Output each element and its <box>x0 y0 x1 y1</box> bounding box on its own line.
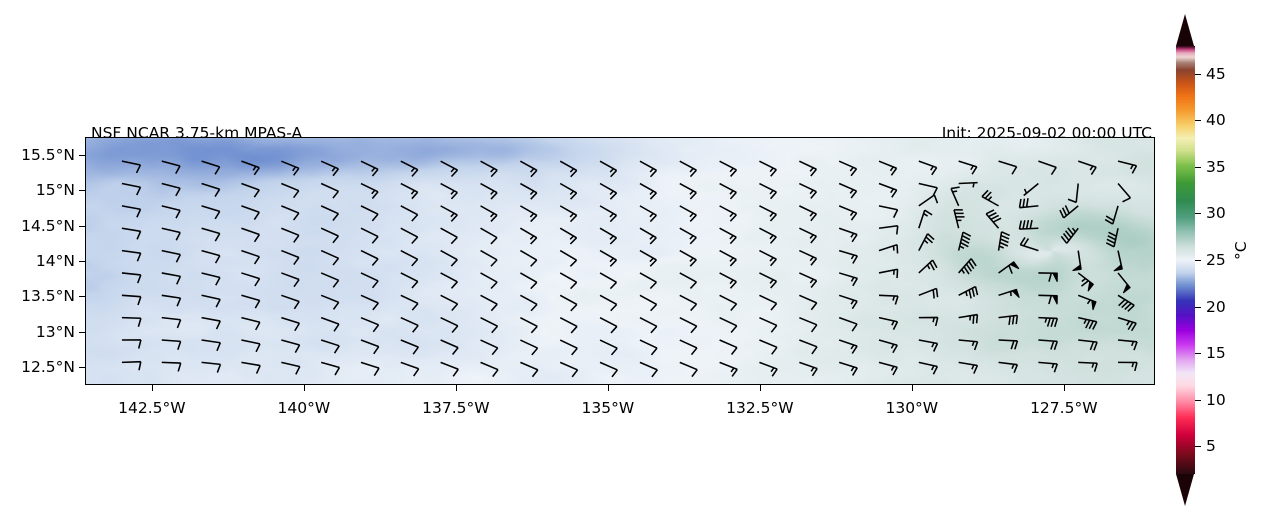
y-axis-tick <box>79 261 85 262</box>
x-axis-tick <box>152 385 153 391</box>
x-axis-tick-label: 135°W <box>581 399 634 417</box>
colorbar-tick-label: 45 <box>1206 65 1226 83</box>
colorbar-tick <box>1195 307 1201 308</box>
colorbar-tick-label: 40 <box>1206 111 1226 129</box>
colorbar-tick-label: 10 <box>1206 391 1226 409</box>
x-axis-tick <box>912 385 913 391</box>
colorbar-tick-label: 30 <box>1206 204 1226 222</box>
y-axis-tick <box>79 367 85 368</box>
colorbar-tick-label: 35 <box>1206 158 1226 176</box>
colorbar-tick <box>1195 213 1201 214</box>
y-axis-tick-label: 14.5°N <box>21 217 75 235</box>
colorbar-tick <box>1195 400 1201 401</box>
y-axis-tick-label: 12.5°N <box>21 358 75 376</box>
y-axis-tick-label: 14°N <box>36 252 75 270</box>
x-axis-tick <box>608 385 609 391</box>
y-axis-tick <box>79 155 85 156</box>
x-axis-tick-label: 127.5°W <box>1030 399 1097 417</box>
wind-barbs-layer <box>86 138 1154 385</box>
colorbar-tick-label: 5 <box>1206 437 1216 455</box>
x-axis-tick-label: 140°W <box>278 399 331 417</box>
colorbar: 51015202530354045 <box>1176 14 1195 506</box>
x-axis-tick <box>1064 385 1065 391</box>
weather-map-figure: NSF NCAR 3.75-km MPAS-A 2-m Temperature … <box>0 0 1268 520</box>
x-axis-tick <box>456 385 457 391</box>
colorbar-tick <box>1195 120 1201 121</box>
y-axis-tick-label: 15.5°N <box>21 146 75 164</box>
colorbar-tick <box>1195 167 1201 168</box>
x-axis-tick-label: 137.5°W <box>422 399 489 417</box>
y-axis-tick <box>79 332 85 333</box>
colorbar-tick <box>1195 74 1201 75</box>
colorbar-tick <box>1195 353 1201 354</box>
colorbar-extend-high-arrow <box>1176 14 1194 46</box>
colorbar-gradient <box>1176 46 1195 474</box>
x-axis-tick <box>760 385 761 391</box>
y-axis-tick <box>79 226 85 227</box>
colorbar-tick-label: 20 <box>1206 298 1226 316</box>
colorbar-tick-label: 25 <box>1206 251 1226 269</box>
x-axis-tick-label: 132.5°W <box>726 399 793 417</box>
colorbar-unit-label: °C <box>1232 241 1250 260</box>
x-axis-tick <box>304 385 305 391</box>
x-axis-tick-label: 142.5°W <box>118 399 185 417</box>
y-axis-tick-label: 15°N <box>36 181 75 199</box>
colorbar-tick <box>1195 446 1201 447</box>
y-axis-tick-label: 13.5°N <box>21 287 75 305</box>
x-axis-tick-label: 130°W <box>885 399 938 417</box>
y-axis-tick-label: 13°N <box>36 323 75 341</box>
map-plot-area <box>85 137 1155 385</box>
y-axis-tick <box>79 296 85 297</box>
colorbar-extend-low-arrow <box>1176 474 1194 506</box>
colorbar-tick <box>1195 260 1201 261</box>
y-axis-tick <box>79 190 85 191</box>
colorbar-tick-label: 15 <box>1206 344 1226 362</box>
